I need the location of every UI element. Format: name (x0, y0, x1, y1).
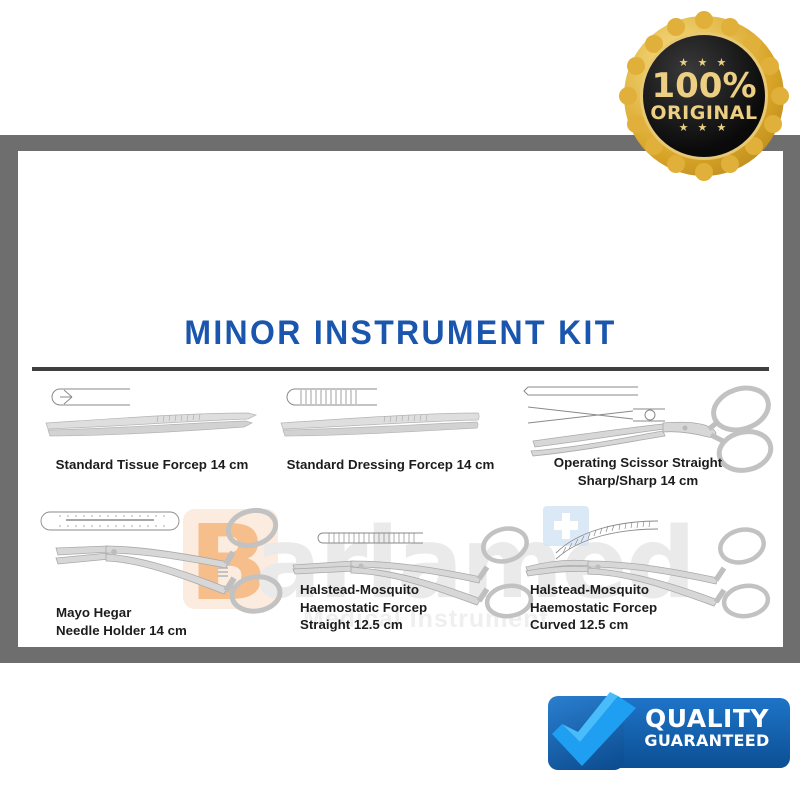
halstead-straight-line1: Halstead-Mosquito (300, 582, 419, 597)
badge-inner-disc: ★ ★ ★ 100% ORIGINAL ★ ★ ★ (640, 32, 768, 160)
halstead-curved-line1: Halstead-Mosquito (530, 582, 649, 597)
quality-text: QUALITY GUARANTEED (632, 706, 782, 752)
quality-badge: QUALITY GUARANTEED (540, 690, 790, 776)
mayo-hegar-needle-holder-image (28, 506, 298, 611)
halstead-straight-line3: Straight 12.5 cm (300, 617, 403, 632)
halstead-mosquito-straight-label: Halstead-Mosquito Haemostatic Forcep Str… (300, 581, 515, 634)
title-divider (32, 367, 769, 371)
operating-scissor-label-line1: Operating Scissor Straight (554, 455, 722, 470)
halstead-curved-line3: Curved 12.5 cm (530, 617, 628, 632)
quality-line2: GUARANTEED (632, 731, 782, 752)
mayo-hegar-needle-holder-label: Mayo Hegar Needle Holder 14 cm (56, 604, 256, 639)
operating-scissor-image (513, 379, 783, 459)
standard-dressing-forcep-image (273, 383, 503, 443)
mayo-hegar-label-line2: Needle Holder 14 cm (56, 623, 187, 638)
operating-scissor-label-line2: Sharp/Sharp 14 cm (578, 473, 698, 488)
standard-tissue-forcep-label: Standard Tissue Forcep 14 cm (32, 456, 272, 474)
standard-dressing-forcep-label: Standard Dressing Forcep 14 cm (268, 456, 513, 474)
quality-line1: QUALITY (632, 706, 782, 731)
original-badge: ★ ★ ★ 100% ORIGINAL ★ ★ ★ (624, 16, 784, 176)
standard-tissue-forcep-image (38, 383, 268, 443)
halstead-mosquito-curved-label: Halstead-Mosquito Haemostatic Forcep Cur… (530, 581, 745, 634)
page-title: MINOR INSTRUMENT KIT (41, 314, 760, 353)
halstead-curved-line2: Haemostatic Forcep (530, 600, 657, 615)
badge-stars-bottom: ★ ★ ★ (679, 123, 730, 134)
bard-packer-handle-image (508, 641, 708, 647)
badge-original-label: ORIGINAL (650, 103, 757, 124)
badge-percent: 100% (651, 69, 756, 103)
halstead-straight-line2: Haemostatic Forcep (300, 600, 427, 615)
operating-scissor-label: Operating Scissor Straight Sharp/Sharp 1… (508, 454, 768, 489)
mayo-hegar-label-line1: Mayo Hegar (56, 605, 131, 620)
product-card: B arlamed Medical Instrument MINOR INSTR… (18, 151, 783, 647)
